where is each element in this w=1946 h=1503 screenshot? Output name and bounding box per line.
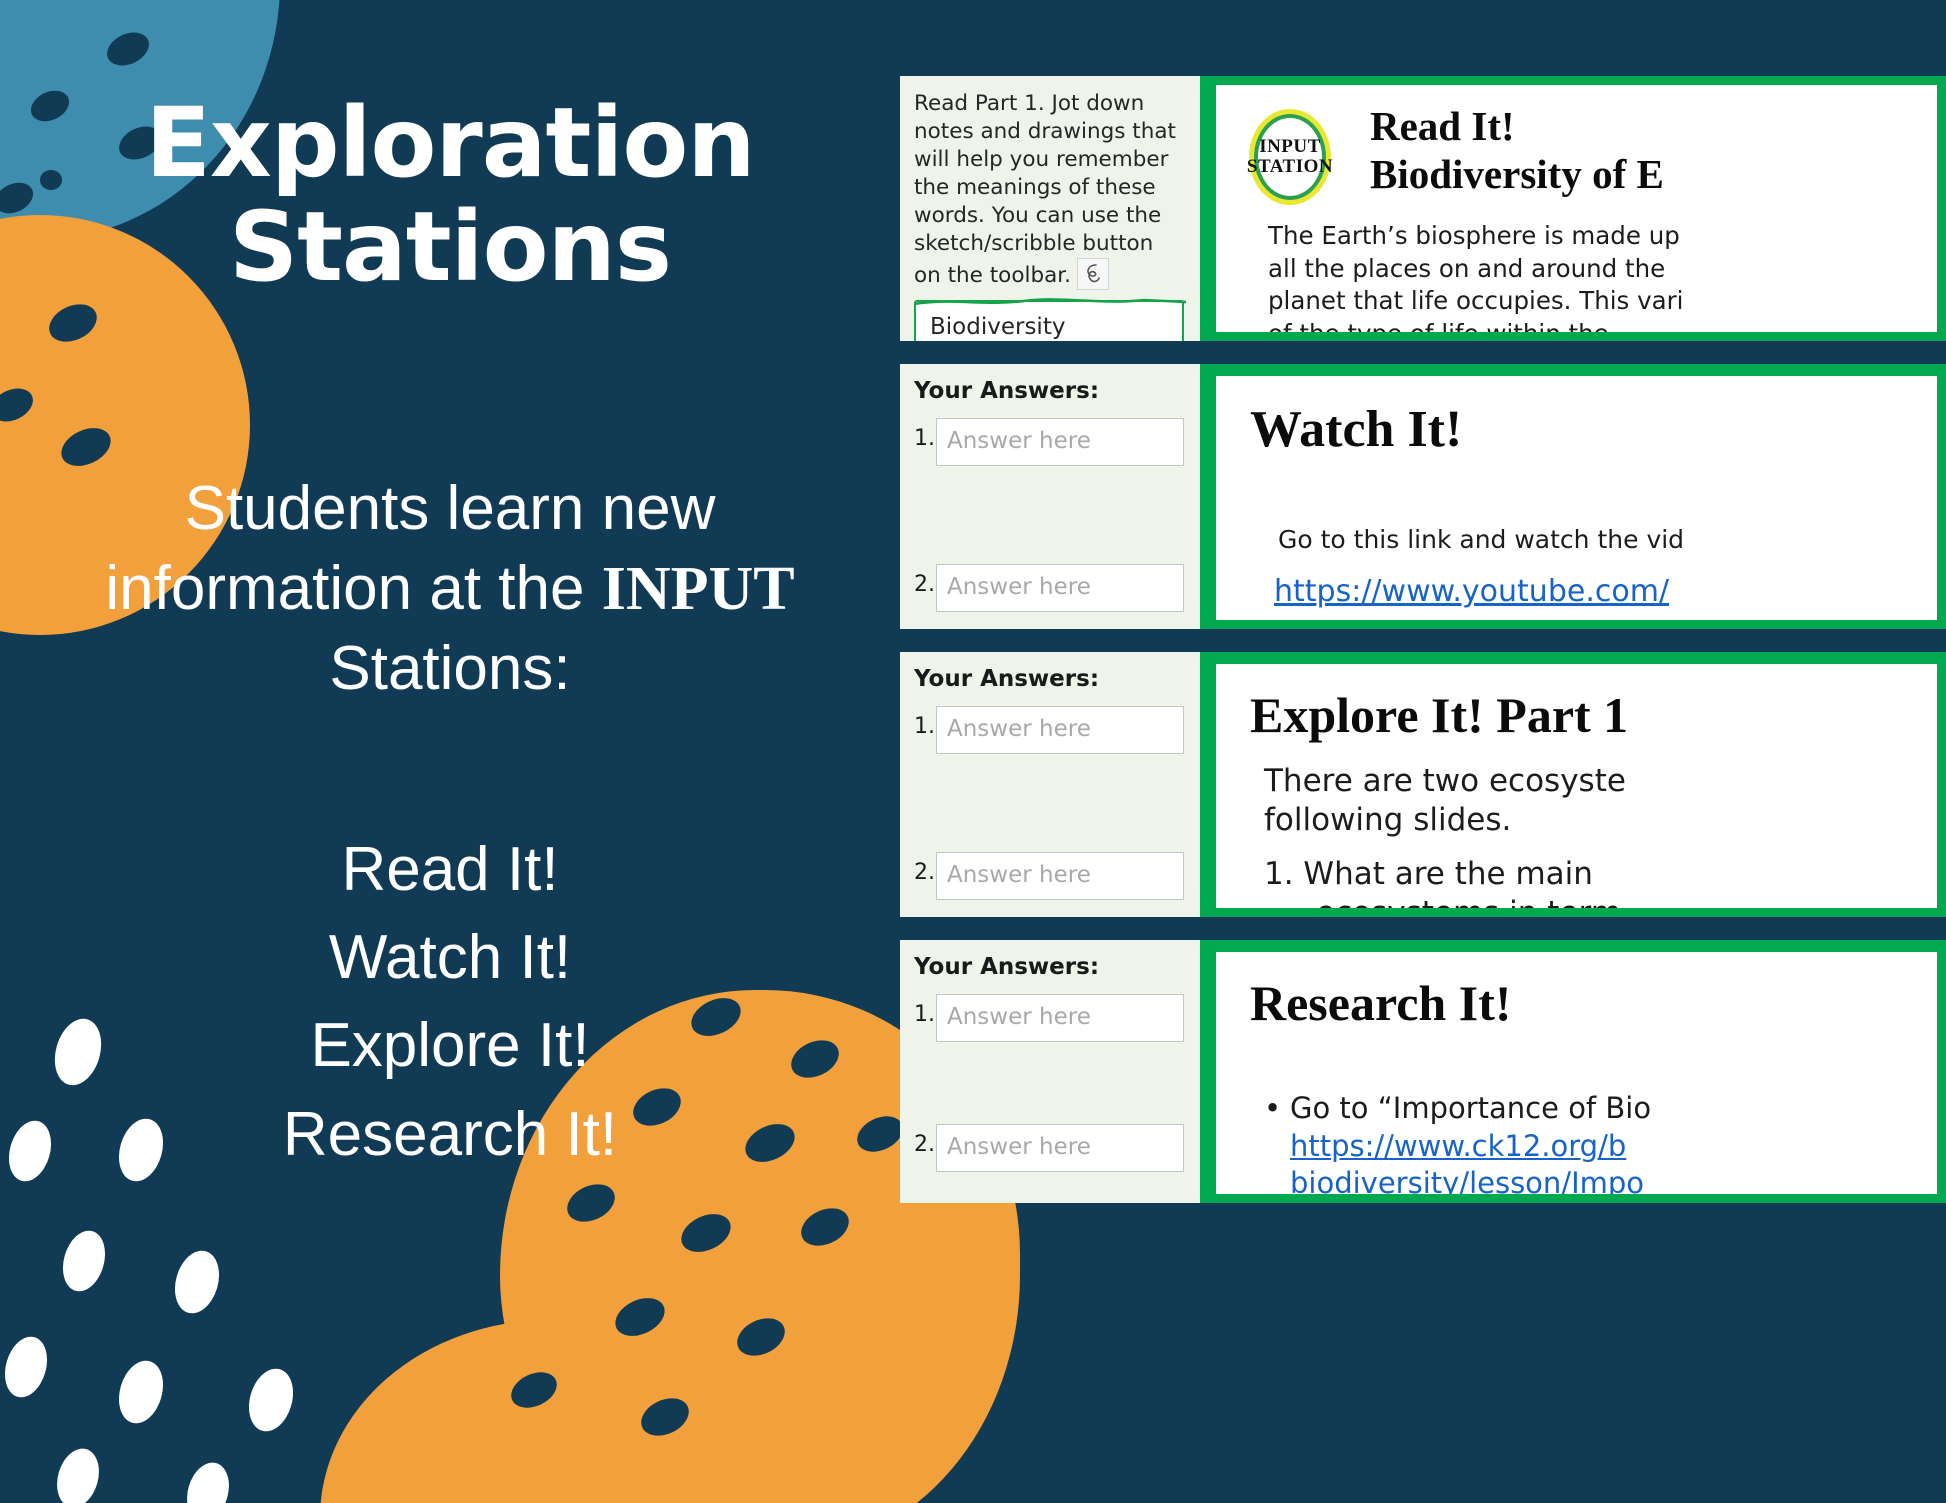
slide-text-column: Exploration Stations Students learn new … [0,0,900,1503]
page-title-line2: Stations [229,191,671,303]
card-divider-strip [1200,652,1216,917]
card-divider-strip [1200,364,1216,629]
explore-q1-line2: ecosystems in term [1316,894,1937,917]
subtitle-part2: Stations: [329,634,570,703]
answer-number: 1. [914,418,936,451]
station-item-research: Research It! [283,1091,617,1179]
answer-row[interactable]: 1. Answer here [914,706,1184,754]
answer-input[interactable]: Answer here [936,418,1184,466]
explore-intro: There are two ecosyste following slides. [1264,762,1937,841]
slide-previews: Read Part 1. Jot down notes and drawings… [900,76,1946,1503]
answer-gap [914,754,1184,852]
student-answers-pane: Your Answers: 1. Answer here 2. Answer h… [900,364,1200,629]
explore-intro-line2: following slides. [1264,801,1937,840]
research-bullet-text: Go to “Importance of Bio [1290,1091,1651,1125]
research-bullet: • Go to “Importance of Bio https://www.c… [1264,1090,1937,1203]
bullet-icon: • [1264,1090,1290,1203]
answers-heading: Your Answers: [914,378,1184,404]
youtube-link[interactable]: https://www.youtube.com/ [1274,574,1937,609]
answer-input[interactable]: Answer here [936,706,1184,754]
answer-number: 2. [914,852,936,885]
answers-heading: Your Answers: [914,954,1184,980]
answer-row[interactable]: 2. Answer here [914,1124,1184,1172]
slide-content-read-it: INPUT STATION Read It! Biodiversity of E… [1216,76,1946,341]
slide-heading-read-it: Read It! Biodiversity of E [1370,103,1937,198]
seal-line-2: STATION [1247,157,1333,177]
slide-heading-watch-it: Watch It! [1250,400,1937,459]
heading-line-2: Biodiversity of E [1370,151,1937,199]
answer-input[interactable]: Answer here [936,994,1184,1042]
station-item-watch: Watch It! [283,914,617,1002]
ck12-link-line2[interactable]: biodiversity/lesson/Impo [1290,1165,1651,1203]
slide-content-explore-it: Explore It! Part 1 There are two ecosyst… [1216,652,1946,917]
heading-line-1: Read It! [1370,103,1937,151]
card-divider-strip [1200,940,1216,1203]
slide-heading-explore-it: Explore It! Part 1 [1250,686,1937,744]
answer-number: 1. [914,706,936,739]
slide-body-read-it: The Earth’s biosphere is made up all the… [1268,220,1937,341]
station-item-explore: Explore It! [283,1002,617,1090]
slide-content-research-it: Research It! • Go to “Importance of Bio … [1216,940,1946,1203]
body-line-3: planet that life occupies. This vari [1268,285,1937,318]
student-answers-pane: Your Answers: 1. Answer here 2. Answer h… [900,652,1200,917]
body-line-2: all the places on and around the [1268,253,1937,286]
subtitle: Students learn new information at the IN… [70,469,830,708]
subtitle-emphasis: INPUT [602,555,795,623]
slide-content-watch-it: Watch It! Go to this link and watch the … [1216,364,1946,629]
explore-question-1: 1. What are the main ecosystems in term [1264,855,1937,917]
answers-heading: Your Answers: [914,666,1184,692]
slide-heading-research-it: Research It! [1250,974,1937,1032]
answer-input[interactable]: Answer here [936,1124,1184,1172]
student-notes-pane: Read Part 1. Jot down notes and drawings… [900,76,1200,341]
answer-row[interactable]: 1. Answer here [914,994,1184,1042]
preview-card-watch-it[interactable]: Your Answers: 1. Answer here 2. Answer h… [900,364,1946,629]
preview-card-explore-it[interactable]: Your Answers: 1. Answer here 2. Answer h… [900,652,1946,917]
scribble-icon[interactable] [1077,258,1109,290]
preview-card-research-it[interactable]: Your Answers: 1. Answer here 2. Answer h… [900,940,1946,1203]
ck12-link-line1[interactable]: https://www.ck12.org/b [1290,1128,1651,1166]
wavy-border-decoration [914,296,1186,308]
instructions-text: Read Part 1. Jot down notes and drawings… [914,90,1184,290]
page-title: Exploration Stations [145,92,754,299]
answer-input[interactable]: Answer here [936,564,1184,612]
student-answers-pane: Your Answers: 1. Answer here 2. Answer h… [900,940,1200,1203]
answer-row[interactable]: 2. Answer here [914,852,1184,900]
research-bullet-content: Go to “Importance of Bio https://www.ck1… [1290,1090,1651,1203]
body-line-1: The Earth’s biosphere is made up [1268,220,1937,253]
preview-card-read-it[interactable]: Read Part 1. Jot down notes and drawings… [900,76,1946,341]
body-line-4: of the type of life within the [1268,318,1937,341]
answer-row[interactable]: 2. Answer here [914,564,1184,612]
vocab-input-box[interactable]: Biodiversity Type/draw here. [914,300,1184,341]
page-title-line1: Exploration [145,87,754,199]
station-item-read: Read It! [283,826,617,914]
station-list: Read It! Watch It! Explore It! Research … [283,826,617,1178]
answer-number: 2. [914,564,936,597]
answer-gap [914,466,1184,564]
explore-intro-line1: There are two ecosyste [1264,762,1937,801]
answer-input[interactable]: Answer here [936,852,1184,900]
vocab-word-label: Biodiversity [930,314,1168,340]
answer-gap [914,1042,1184,1124]
watch-instruction: Go to this link and watch the vid [1278,525,1937,554]
input-station-seal: INPUT STATION [1242,103,1338,211]
seal-line-1: INPUT [1259,137,1321,157]
explore-q1-line1: 1. What are the main [1264,856,1593,892]
answer-number: 1. [914,994,936,1027]
card-divider-strip [1200,76,1216,341]
answer-row[interactable]: 1. Answer here [914,418,1184,466]
answer-number: 2. [914,1124,936,1157]
